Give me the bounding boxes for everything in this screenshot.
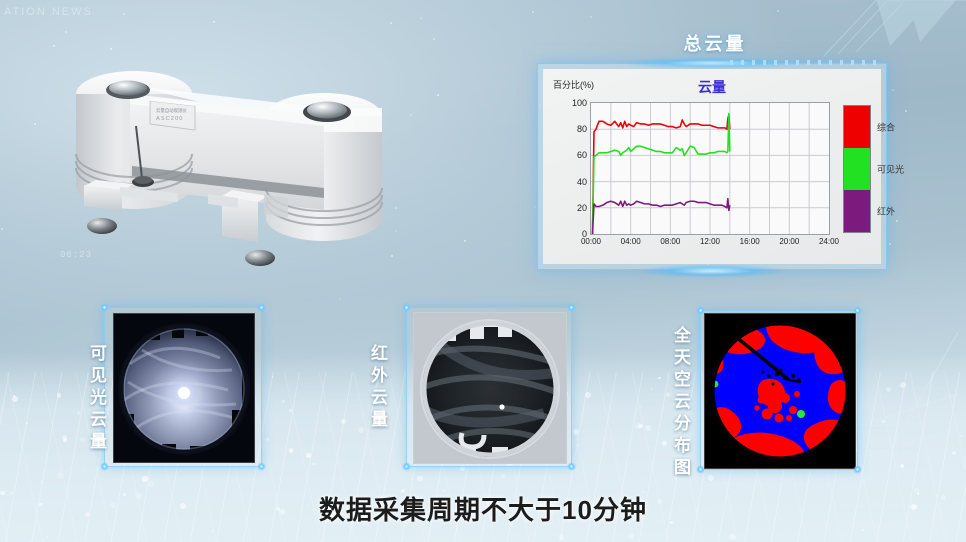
legend-swatch-2: 红外	[844, 190, 870, 232]
chart-ytick: 20	[577, 203, 587, 213]
chart-series-svg	[591, 103, 829, 234]
legend-swatch-1: 可见光	[844, 148, 870, 190]
bubble-particle	[282, 400, 284, 402]
chart-xtick: 24:00	[819, 237, 839, 246]
panel-node-tr	[257, 303, 266, 312]
chart-canvas: 百分比(%) 云量 02040608010000:0004:0008:0012:…	[543, 69, 881, 264]
bubble-particle	[142, 476, 147, 481]
bubble-particle	[148, 481, 154, 487]
bubble-particle	[651, 388, 652, 389]
svg-text:ASC200: ASC200	[156, 116, 183, 122]
svg-text:云量自动观测仪: 云量自动观测仪	[156, 107, 187, 114]
panel-infrared[interactable]	[406, 307, 572, 467]
star-particle	[590, 16, 592, 18]
chart-ytick: 40	[577, 177, 587, 187]
chart-xtick: 04:00	[621, 237, 641, 246]
bubble-particle	[266, 438, 269, 441]
image-infrared[interactable]	[413, 312, 567, 464]
legend-label-2: 红外	[877, 204, 895, 217]
bubble-particle	[573, 429, 579, 435]
bubble-particle	[662, 441, 667, 446]
bubble-particle	[559, 535, 564, 540]
star-particle	[213, 21, 215, 23]
bubble-particle	[47, 536, 48, 537]
bubble-particle	[729, 534, 736, 541]
bubble-particle	[900, 464, 904, 468]
bubble-particle	[358, 427, 364, 433]
bubble-particle	[952, 451, 956, 455]
device-3d-render: 云量自动观测仪 ASC200	[62, 46, 412, 291]
panel-node-tl	[100, 303, 109, 312]
bubble-particle	[26, 422, 28, 424]
bubble-particle	[77, 411, 81, 415]
label-visible-light: 可见光云量	[84, 344, 109, 454]
label-cloud-map: 全天空云分布图	[668, 326, 693, 480]
star-particle	[437, 94, 439, 96]
background-ghost-text: ATION NEWS	[4, 6, 93, 18]
panel-node-bl	[100, 462, 109, 471]
bubble-particle	[380, 486, 382, 488]
panel-node-bl	[696, 465, 705, 474]
bubble-particle	[639, 406, 641, 408]
bubble-particle	[585, 392, 591, 398]
chart-panel-title: 总云量	[650, 30, 780, 56]
legend-label-0: 综合	[877, 120, 895, 133]
star-particle	[896, 220, 898, 222]
panel-node-bl	[402, 462, 411, 471]
bubble-particle	[272, 376, 274, 378]
bubble-particle	[84, 467, 86, 469]
bubble-particle	[289, 409, 292, 412]
bubble-particle	[212, 530, 214, 532]
bubble-particle	[306, 453, 311, 458]
star-particle	[464, 240, 466, 242]
chart-xtick: 12:00	[700, 237, 720, 246]
panel-node-br	[257, 462, 266, 471]
chart-xtick: 16:00	[740, 237, 760, 246]
bubble-particle	[708, 475, 714, 481]
chart-ytick: 80	[577, 124, 587, 134]
bubble-particle	[638, 424, 643, 429]
panel-node-tr	[853, 306, 862, 315]
bubble-particle	[312, 463, 314, 465]
panel-dot-accent	[730, 60, 880, 65]
star-particle	[889, 243, 891, 245]
bubble-particle	[103, 540, 105, 542]
star-particle	[53, 45, 55, 47]
star-particle	[34, 123, 36, 125]
chart-xtick: 00:00	[581, 237, 601, 246]
legend-swatch-0: 综合	[844, 106, 870, 148]
star-particle	[123, 13, 125, 15]
panel-node-tl	[696, 306, 705, 315]
star-particle	[905, 110, 907, 112]
chart-title-text: 云量	[698, 79, 726, 95]
star-particle	[339, 298, 341, 300]
bubble-particle	[341, 419, 345, 423]
bubble-particle	[886, 387, 891, 392]
panel-node-br	[567, 462, 576, 471]
bubble-particle	[238, 484, 240, 486]
star-particle	[532, 11, 534, 13]
panel-node-br	[853, 465, 862, 474]
bubble-particle	[862, 529, 864, 531]
bubble-particle	[658, 377, 660, 379]
legend-label-1: 可见光	[877, 162, 904, 175]
bubble-particle	[628, 533, 634, 539]
slide-caption: 数据采集周期不大于10分钟	[0, 490, 966, 527]
bubble-particle	[57, 472, 64, 479]
bubble-particle	[289, 448, 293, 452]
star-particle	[1, 228, 3, 230]
label-infrared: 红外云量	[365, 344, 390, 432]
bubble-particle	[960, 435, 963, 438]
bubble-particle	[578, 444, 580, 446]
chart-plot-area: 02040608010000:0004:0008:0012:0016:0020:…	[590, 102, 830, 235]
chart-ytick: 60	[577, 150, 587, 160]
chart-panel: 百分比(%) 云量 02040608010000:0004:0008:0012:…	[537, 63, 887, 270]
image-visible-light[interactable]	[113, 313, 255, 463]
image-cloud-distribution[interactable]	[704, 313, 856, 469]
panel-node-tl	[402, 303, 411, 312]
star-particle	[892, 89, 894, 91]
device-nameplate: 云量自动观测仪 ASC200	[150, 98, 198, 130]
star-particle	[534, 206, 536, 208]
bubble-particle	[417, 476, 422, 481]
chart-xtick: 20:00	[779, 237, 799, 246]
chart-title: 云量	[543, 77, 881, 97]
star-particle	[433, 38, 435, 40]
star-particle	[390, 22, 392, 24]
bubble-particle	[900, 382, 906, 388]
chart-ytick: 100	[572, 98, 587, 108]
panel-bottom-glow	[637, 264, 787, 278]
chart-legend: 综合可见光红外	[843, 105, 871, 233]
panel-visible-light[interactable]	[104, 307, 262, 467]
star-particle	[777, 10, 779, 12]
panel-node-tr	[567, 303, 576, 312]
chart-xtick: 08:00	[660, 237, 680, 246]
slide-root: ATION NEWS 06:23	[0, 0, 966, 542]
star-particle	[65, 31, 67, 33]
bubble-particle	[882, 420, 885, 423]
panel-cloud-map[interactable]	[700, 310, 858, 470]
star-particle	[420, 17, 422, 19]
bubble-particle	[645, 425, 651, 431]
bubble-particle	[57, 393, 61, 397]
bubble-particle	[501, 474, 505, 478]
bubble-particle	[41, 481, 42, 482]
bubble-particle	[63, 438, 68, 443]
